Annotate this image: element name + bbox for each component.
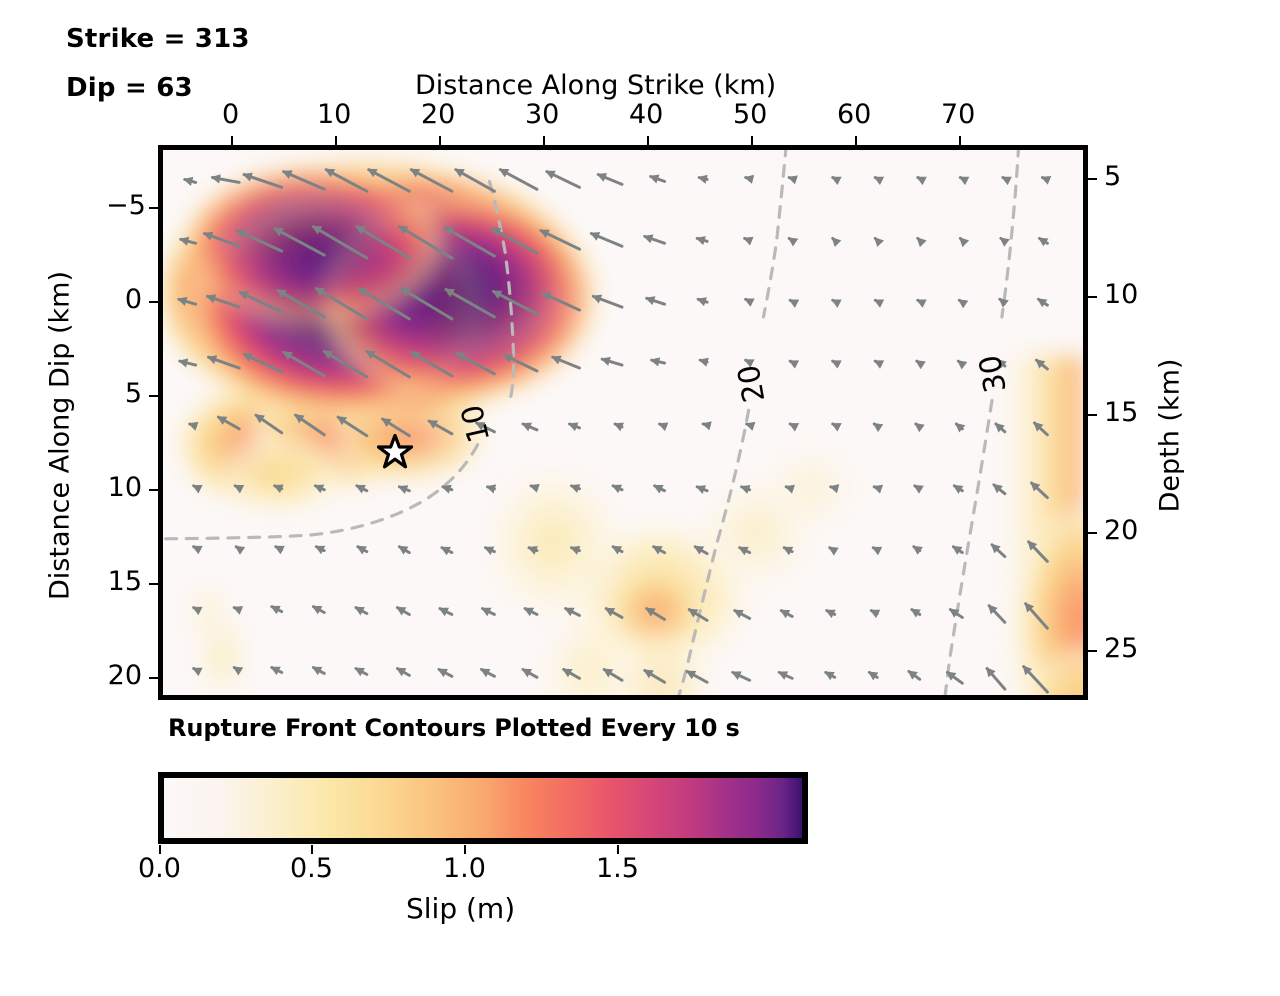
x-tick-30 xyxy=(543,136,545,145)
x-ticklabel-60: 60 xyxy=(837,99,871,130)
hypocenter-star xyxy=(377,434,413,470)
dip-annotation: Dip = 63 xyxy=(66,73,193,103)
x-ticklabel-30: 30 xyxy=(525,99,559,130)
y-ticklabel-0: 0 xyxy=(106,284,142,315)
x-tick-60 xyxy=(855,136,857,145)
cbar-ticklabel-1.0: 1.0 xyxy=(443,853,486,884)
y-axis-left-title: Distance Along Dip (km) xyxy=(45,226,76,646)
cbar-ticklabel-1.5: 1.5 xyxy=(596,853,639,884)
slip-heatmap-canvas: 10 20 30 xyxy=(163,150,1083,695)
slip-colorbar xyxy=(158,772,808,844)
depth-ticklabel-25: 25 xyxy=(1104,633,1138,664)
x-ticklabel-40: 40 xyxy=(629,99,663,130)
x-tick-50 xyxy=(751,136,753,145)
cbar-ticklabel-0.5: 0.5 xyxy=(290,853,333,884)
rupture-front-caption: Rupture Front Contours Plotted Every 10 … xyxy=(168,714,740,742)
depth-tick-20 xyxy=(1088,532,1097,534)
strike-annotation: Strike = 313 xyxy=(66,24,250,54)
x-tick-10 xyxy=(335,136,337,145)
y-tick-neg5 xyxy=(149,207,158,209)
depth-ticklabel-5: 5 xyxy=(1104,161,1121,192)
x-ticklabel-20: 20 xyxy=(421,99,455,130)
x-ticklabel-10: 10 xyxy=(317,99,351,130)
y-tick-5 xyxy=(149,395,158,397)
depth-ticklabel-20: 20 xyxy=(1104,515,1138,546)
x-ticklabel-70: 70 xyxy=(941,99,975,130)
colorbar-title: Slip (m) xyxy=(406,892,515,925)
depth-tick-15 xyxy=(1088,414,1097,416)
cbar-ticklabel-0.0: 0.0 xyxy=(138,853,181,884)
y-ticklabel-10: 10 xyxy=(106,472,142,503)
depth-ticklabel-10: 10 xyxy=(1104,279,1138,310)
x-tick-40 xyxy=(647,136,649,145)
x-tick-0 xyxy=(231,136,233,145)
y-tick-15 xyxy=(149,583,158,585)
y-ticklabel-15: 15 xyxy=(106,566,142,597)
x-ticklabel-0: 0 xyxy=(222,99,239,130)
y-tick-10 xyxy=(149,489,158,491)
x-axis-top-title: Distance Along Strike (km) xyxy=(415,70,776,101)
colorbar-gradient xyxy=(164,778,802,838)
contour-label-20: 20 xyxy=(731,362,771,405)
y-tick-20 xyxy=(149,677,158,679)
y-tick-0 xyxy=(149,301,158,303)
y-ticklabel-5: 5 xyxy=(106,378,142,409)
depth-tick-10 xyxy=(1088,296,1097,298)
y-ticklabel-20: 20 xyxy=(106,660,142,691)
x-tick-20 xyxy=(439,136,441,145)
x-ticklabel-50: 50 xyxy=(733,99,767,130)
y-axis-right-title: Depth (km) xyxy=(1155,226,1186,646)
depth-tick-5 xyxy=(1088,178,1097,180)
y-ticklabel-neg5: −5 xyxy=(106,190,142,221)
depth-ticklabel-15: 15 xyxy=(1104,397,1138,428)
slip-distribution-figure: Strike = 313 Dip = 63 Distance Along Str… xyxy=(0,0,1280,996)
slip-map-plot-area: 10 20 30 xyxy=(158,145,1088,700)
contour-label-30: 30 xyxy=(973,352,1013,395)
depth-tick-25 xyxy=(1088,650,1097,652)
x-tick-70 xyxy=(959,136,961,145)
